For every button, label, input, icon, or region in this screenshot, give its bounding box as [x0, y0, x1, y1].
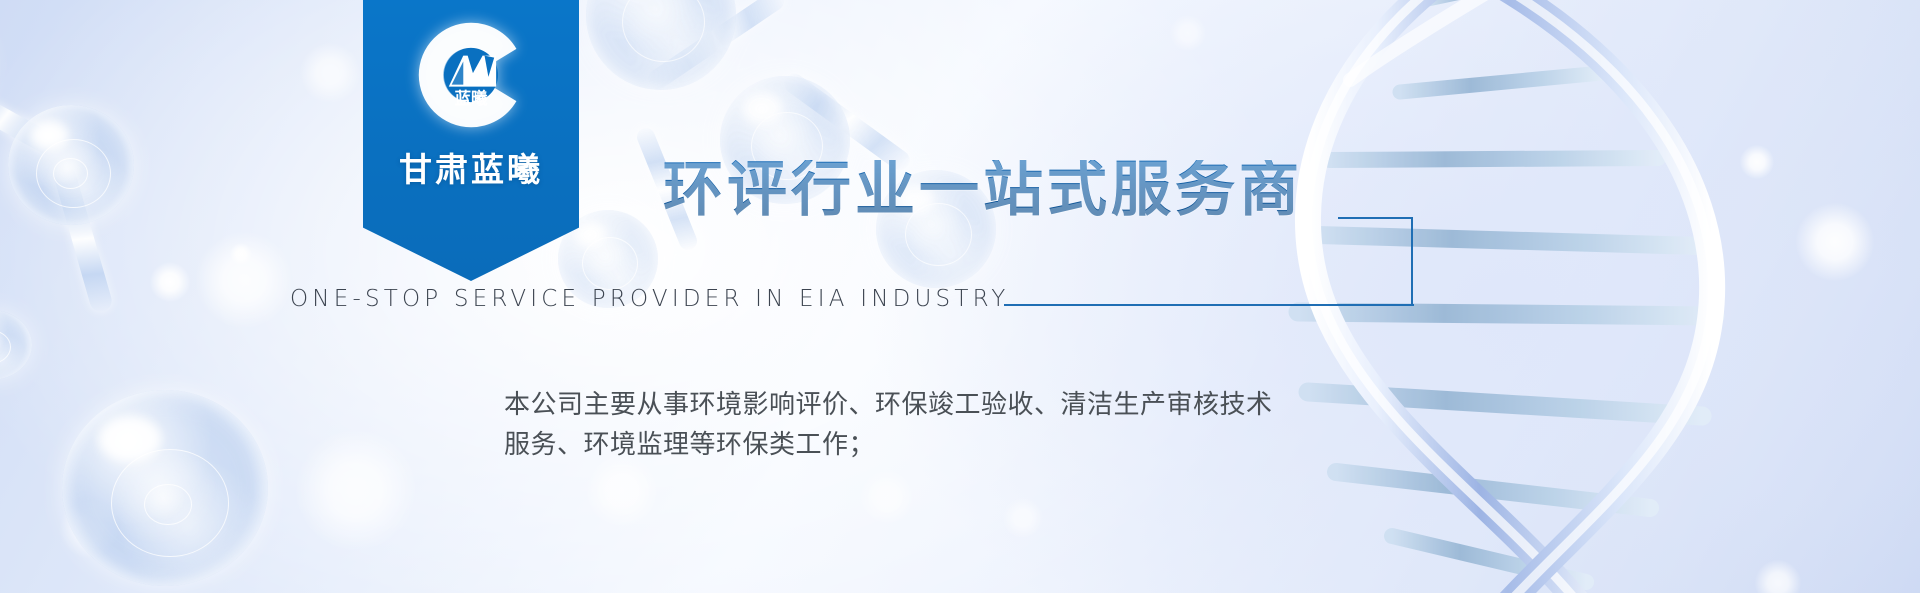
molecule-atom	[0, 310, 32, 380]
bokeh-dot	[586, 455, 658, 527]
bokeh-dot	[1003, 498, 1043, 538]
bracket-rule-vertical	[1411, 217, 1413, 306]
ribbon-company-name: 甘肃蓝曦	[399, 143, 543, 191]
bokeh-dot	[60, 500, 118, 558]
intro-paragraph: 本公司主要从事环境影响评价、环保竣工验收、清洁生产审核技术 服务、环境监理等环保…	[504, 385, 1434, 465]
bokeh-dot	[300, 43, 360, 103]
bokeh-dot	[1170, 15, 1206, 51]
dna-double-helix-illustration	[1210, 0, 1910, 593]
bokeh-dot	[150, 262, 190, 302]
molecule-bond	[0, 78, 65, 160]
intro-paragraph-line: 服务、环境监理等环保类工作；	[504, 425, 1434, 465]
brand-ribbon: 蓝曦 甘肃蓝曦	[363, 0, 579, 281]
bracket-rule-bottom	[1004, 304, 1414, 306]
bokeh-dot	[296, 430, 416, 550]
bokeh-dot	[1796, 203, 1874, 281]
hero-banner: 蓝曦 甘肃蓝曦 环评行业一站式服务商 ONE-STOP SERVICE PROV…	[0, 0, 1920, 593]
page-title: 环评行业一站式服务商	[663, 160, 1303, 220]
molecule-bond	[644, 0, 788, 93]
intro-paragraph-line: 本公司主要从事环境影响评价、环保竣工验收、清洁生产审核技术	[504, 385, 1434, 425]
bokeh-dot	[196, 232, 292, 328]
bokeh-dot	[1740, 145, 1774, 179]
molecule-atom	[8, 105, 134, 225]
bokeh-dot	[230, 243, 252, 265]
molecule-atom	[62, 390, 268, 586]
molecule-bond	[52, 164, 114, 314]
bokeh-dot	[860, 470, 914, 524]
page-subtitle: ONE-STOP SERVICE PROVIDER IN EIA INDUSTR…	[290, 286, 1010, 312]
bracket-rule-top	[1338, 217, 1413, 219]
logo-mark-text: 蓝曦	[455, 89, 488, 108]
lanxi-circle-logo-icon: 蓝曦	[413, 17, 529, 133]
molecule-atom	[586, 0, 736, 90]
bokeh-dot	[1755, 560, 1801, 593]
